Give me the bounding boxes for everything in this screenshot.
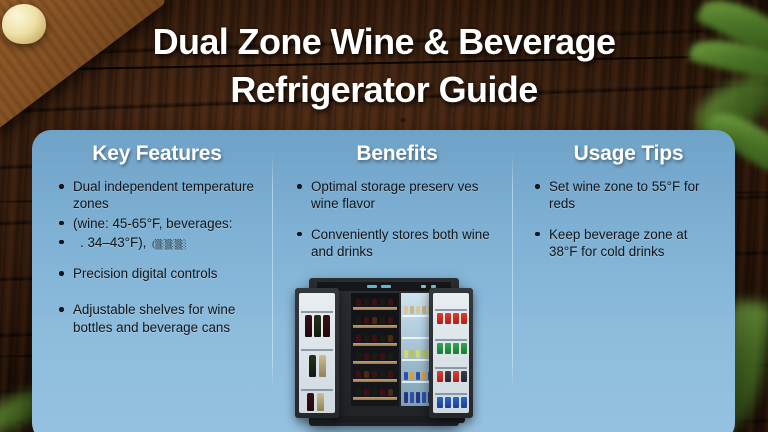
wine-shelf bbox=[353, 379, 397, 382]
beverage-can bbox=[410, 392, 414, 403]
beverage-can bbox=[422, 392, 426, 403]
title-line-1: Dual Zone Wine & Beverage bbox=[153, 21, 616, 62]
wine-bottle bbox=[380, 317, 385, 324]
page-title: Dual Zone Wine & Beverage Refrigerator G… bbox=[0, 18, 768, 114]
wine-door-inner-panel bbox=[299, 293, 335, 413]
door-rack bbox=[435, 393, 467, 395]
beverage-can bbox=[404, 350, 408, 358]
title-line-2: Refrigerator Guide bbox=[0, 66, 768, 114]
beverage-can bbox=[404, 372, 408, 380]
beverage-can bbox=[453, 371, 459, 382]
wine-bottle bbox=[364, 299, 369, 306]
wine-bottle bbox=[364, 371, 369, 378]
wine-bottle bbox=[356, 335, 361, 342]
beverage-can bbox=[437, 313, 443, 324]
beverage-can bbox=[404, 392, 408, 403]
beverage-can bbox=[445, 343, 451, 354]
beverage-can bbox=[453, 343, 459, 354]
beverage-can bbox=[410, 306, 414, 314]
wine-zone-door bbox=[295, 288, 339, 418]
wine-bottle bbox=[364, 353, 369, 360]
beverage-can bbox=[445, 371, 451, 382]
wine-bottle bbox=[356, 317, 361, 324]
wine-shelf bbox=[353, 343, 397, 346]
door-rack bbox=[301, 311, 333, 313]
list-item: . 34–43°F), (▒░▒░▒░ bbox=[58, 234, 256, 252]
list-item: Precision digital controls bbox=[58, 265, 256, 282]
wine-bottle bbox=[356, 389, 361, 396]
column-benefits: Benefits Optimal storage preserv ves win… bbox=[272, 130, 512, 273]
refrigerator-product-image bbox=[295, 278, 473, 432]
wine-shelf bbox=[353, 361, 397, 364]
list-item: Optimal storage preserv ves wine flavor bbox=[296, 178, 498, 213]
wine-bottle bbox=[372, 317, 377, 324]
wine-bottle bbox=[364, 389, 369, 396]
wine-bottle bbox=[317, 393, 324, 411]
column-usage-tips: Usage Tips Set wine zone to 55°F for red… bbox=[512, 130, 735, 273]
wine-bottle bbox=[307, 393, 314, 411]
wine-bottle bbox=[380, 389, 385, 396]
wine-bottle bbox=[372, 335, 377, 342]
column-heading-key-features: Key Features bbox=[58, 142, 256, 166]
beverage-zone-door bbox=[429, 288, 473, 418]
beverage-can bbox=[437, 397, 443, 408]
wine-bottle bbox=[372, 353, 377, 360]
wine-bottle bbox=[388, 389, 393, 396]
beverage-can bbox=[445, 397, 451, 408]
list-item: Set wine zone to 55°F for reds bbox=[534, 178, 719, 213]
wine-bottle bbox=[372, 299, 377, 306]
beverage-can bbox=[410, 372, 414, 380]
wine-shelf bbox=[353, 307, 397, 310]
list-item: Conveniently stores both wine and drinks bbox=[296, 226, 498, 261]
wine-bottle bbox=[372, 371, 377, 378]
wine-bottle bbox=[309, 355, 316, 377]
beverage-can bbox=[422, 372, 426, 380]
beverage-can bbox=[422, 350, 426, 358]
column-key-features: Key Features Dual independent temperatur… bbox=[32, 130, 272, 349]
wine-shelf bbox=[353, 397, 397, 400]
list-item: Dual independent temperature zones bbox=[58, 178, 256, 213]
indicator-led-icon bbox=[421, 285, 426, 288]
list-item: Adjustable shelves for wine bottles and … bbox=[58, 301, 256, 336]
wine-bottle bbox=[380, 353, 385, 360]
list-item-text: . 34–43°F), bbox=[80, 235, 146, 250]
wine-bottle bbox=[364, 335, 369, 342]
beverage-can bbox=[453, 313, 459, 324]
wine-bottle bbox=[314, 315, 321, 337]
wine-bottle bbox=[380, 299, 385, 306]
door-rack bbox=[301, 389, 333, 391]
beverage-can bbox=[416, 350, 420, 358]
wine-zone-cavity bbox=[351, 293, 399, 406]
list-item: (wine: 45-65°F, beverages: bbox=[58, 215, 256, 232]
door-rack bbox=[435, 339, 467, 341]
key-features-list: Dual independent temperature zones (wine… bbox=[58, 178, 256, 336]
wine-bottle bbox=[356, 371, 361, 378]
wood-grain-fleck bbox=[400, 118, 406, 122]
beverage-can bbox=[445, 313, 451, 324]
door-rack bbox=[301, 349, 333, 351]
beverage-can bbox=[437, 343, 443, 354]
beverage-door-inner-panel bbox=[433, 293, 469, 413]
beverage-can bbox=[461, 343, 467, 354]
corrupted-glyph-artifact: (▒░▒░▒░ bbox=[150, 239, 185, 251]
wine-bottle bbox=[372, 389, 377, 396]
wine-bottle bbox=[356, 299, 361, 306]
beverage-can bbox=[416, 306, 420, 314]
infographic-canvas: Dual Zone Wine & Beverage Refrigerator G… bbox=[0, 0, 768, 432]
beverage-can bbox=[461, 371, 467, 382]
beverage-can bbox=[404, 306, 408, 314]
beverage-can bbox=[410, 350, 414, 358]
usage-tips-list: Set wine zone to 55°F for reds Keep beve… bbox=[534, 178, 719, 260]
beverage-can bbox=[461, 397, 467, 408]
beverage-can bbox=[416, 392, 420, 403]
beverage-can bbox=[422, 306, 426, 314]
wine-bottle bbox=[388, 371, 393, 378]
wine-bottle bbox=[388, 335, 393, 342]
beverage-can bbox=[437, 371, 443, 382]
beverage-can bbox=[461, 313, 467, 324]
beverage-can bbox=[416, 372, 420, 380]
wine-bottle bbox=[323, 315, 330, 337]
list-item-text: (wine: 45-65°F, beverages: bbox=[73, 216, 232, 231]
wine-bottle bbox=[364, 317, 369, 324]
wine-shelf bbox=[353, 325, 397, 328]
wine-bottle bbox=[388, 317, 393, 324]
temperature-display-icon bbox=[381, 285, 391, 288]
column-heading-benefits: Benefits bbox=[296, 142, 498, 166]
list-item: Keep beverage zone at 38°F for cold drin… bbox=[534, 226, 719, 261]
door-rack bbox=[435, 367, 467, 369]
column-heading-usage-tips: Usage Tips bbox=[538, 142, 719, 166]
benefits-list: Optimal storage preserv ves wine flavor … bbox=[296, 178, 498, 260]
wine-bottle bbox=[305, 315, 312, 337]
wine-bottle bbox=[388, 353, 393, 360]
door-rack bbox=[435, 309, 467, 311]
temperature-display-icon bbox=[367, 285, 377, 288]
wine-bottle bbox=[388, 299, 393, 306]
wine-bottle bbox=[319, 355, 326, 377]
wine-bottle bbox=[380, 335, 385, 342]
beverage-can bbox=[453, 397, 459, 408]
wine-bottle bbox=[380, 371, 385, 378]
wine-bottle bbox=[356, 353, 361, 360]
